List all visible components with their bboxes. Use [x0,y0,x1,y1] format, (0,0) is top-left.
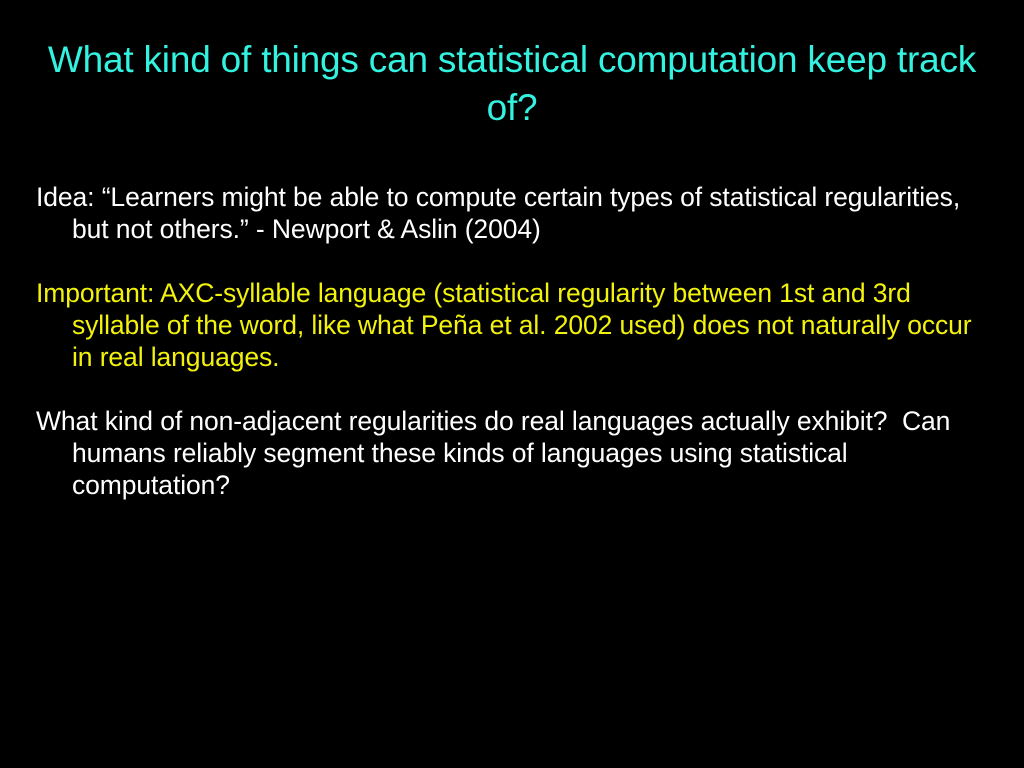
slide-title: What kind of things can statistical comp… [32,36,992,132]
question-paragraph: What kind of non-adjacent regularities d… [36,405,998,501]
slide-body: Idea: “Learners might be able to compute… [36,181,998,501]
presentation-slide: What kind of things can statistical comp… [0,0,1024,768]
important-paragraph: Important: AXC-syllable language (statis… [36,277,998,373]
idea-paragraph: Idea: “Learners might be able to compute… [36,181,998,245]
